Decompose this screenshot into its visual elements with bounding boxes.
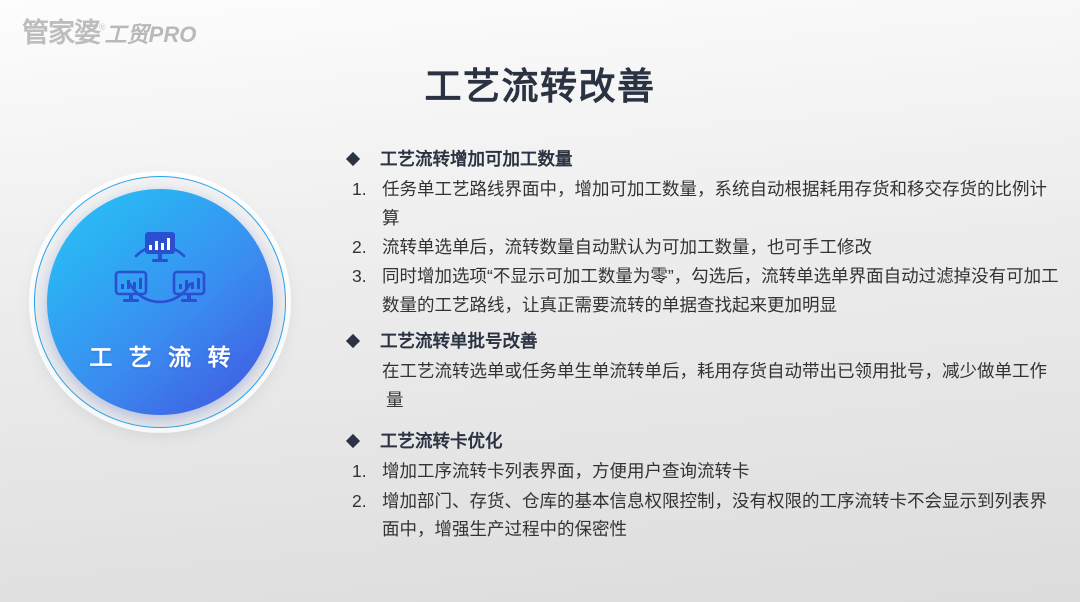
section-1-heading: 工艺流转增加可加工数量 (348, 146, 1060, 172)
registered-trademark-icon: ® (99, 22, 106, 32)
brand-logo-sub: 工贸PRO (105, 24, 197, 46)
list-item: 2. 流转单选单后，流转数量自动默认为可加工数量，也可手工修改 (348, 233, 1060, 261)
section-3-list: 1. 增加工序流转卡列表界面，方便用户查询流转卡 2. 增加部门、存货、仓库的基… (348, 457, 1060, 543)
network-monitors-icon (108, 226, 212, 324)
brand-logo: 管家婆 ® 工贸PRO (22, 20, 196, 47)
list-item-number: 1. (348, 457, 382, 485)
brand-logo-main: 管家婆 (22, 20, 100, 47)
list-item-text: 流转单选单后，流转数量自动默认为可加工数量，也可手工修改 (382, 233, 1060, 261)
diamond-bullet-icon (346, 152, 360, 166)
list-item-text: 任务单工艺路线界面中，增加可加工数量，系统自动根据耗用存货和移交存货的比例计算 (382, 175, 1060, 232)
section-3-heading-text: 工艺流转卡优化 (380, 428, 503, 454)
list-item-number: 2. (348, 487, 382, 515)
section-3: 工艺流转卡优化 1. 增加工序流转卡列表界面，方便用户查询流转卡 2. 增加部门… (348, 428, 1060, 543)
section-3-heading: 工艺流转卡优化 (348, 428, 1060, 454)
page-title: 工艺流转改善 (0, 56, 1080, 110)
diamond-bullet-icon (346, 334, 360, 348)
section-1-heading-text: 工艺流转增加可加工数量 (380, 146, 573, 172)
list-item: 3. 同时增加选项“不显示可加工数量为零”，勾选后，流转单选单界面自动过滤掉没有… (348, 262, 1060, 319)
list-item: 1. 增加工序流转卡列表界面，方便用户查询流转卡 (348, 457, 1060, 485)
list-item-text: 同时增加选项“不显示可加工数量为零”，勾选后，流转单选单界面自动过滤掉没有可加工… (382, 262, 1060, 319)
list-item-number: 3. (348, 262, 382, 290)
diamond-bullet-icon (346, 434, 360, 448)
list-item: 1. 任务单工艺路线界面中，增加可加工数量，系统自动根据耗用存货和移交存货的比例… (348, 175, 1060, 232)
section-2-paragraph: 在工艺流转选单或任务单生单流转单后，耗用存货自动带出已领用批号，减少做单工作量 (348, 357, 1060, 414)
badge-label: 工 艺 流 转 (84, 338, 235, 372)
section-2: 工艺流转单批号改善 在工艺流转选单或任务单生单流转单后，耗用存货自动带出已领用批… (348, 328, 1060, 414)
list-item-text: 增加部门、存货、仓库的基本信息权限控制，没有权限的工序流转卡不会显示到列表界面中… (382, 487, 1060, 544)
feature-badge: 工 艺 流 转 (34, 176, 286, 428)
list-item-number: 2. (348, 233, 382, 261)
list-item: 2. 增加部门、存货、仓库的基本信息权限控制，没有权限的工序流转卡不会显示到列表… (348, 487, 1060, 544)
section-1: 工艺流转增加可加工数量 1. 任务单工艺路线界面中，增加可加工数量，系统自动根据… (348, 146, 1060, 319)
section-2-heading: 工艺流转单批号改善 (348, 328, 1060, 354)
badge-circle: 工 艺 流 转 (47, 189, 273, 415)
list-item-number: 1. (348, 175, 382, 203)
section-2-heading-text: 工艺流转单批号改善 (380, 328, 538, 354)
section-1-list: 1. 任务单工艺路线界面中，增加可加工数量，系统自动根据耗用存货和移交存货的比例… (348, 175, 1060, 319)
content-column: 工艺流转增加可加工数量 1. 任务单工艺路线界面中，增加可加工数量，系统自动根据… (348, 146, 1060, 545)
list-item-text: 增加工序流转卡列表界面，方便用户查询流转卡 (382, 457, 1060, 485)
